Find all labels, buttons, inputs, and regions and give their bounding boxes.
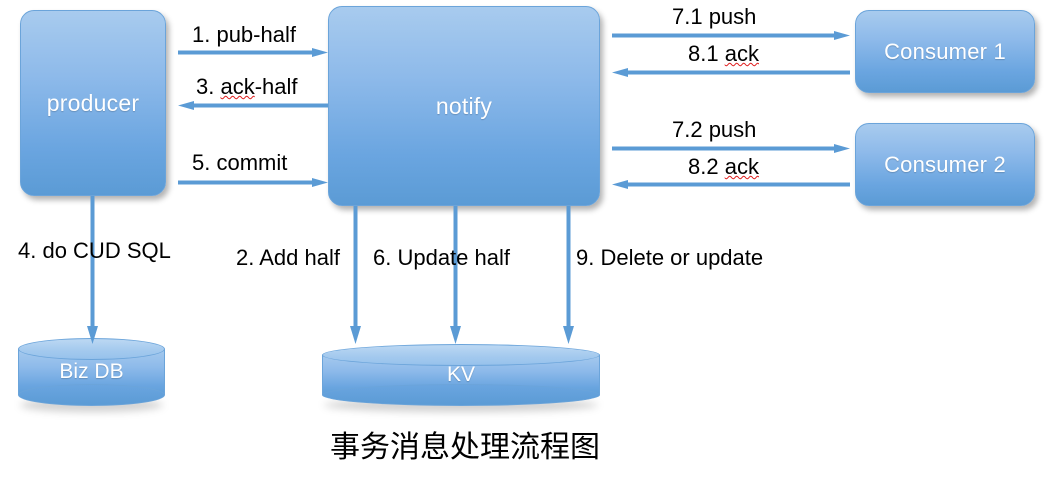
flow-diagram-canvas: producer notify Consumer 1 Consumer 2 Bi… [0,0,1058,483]
arrow-label-ack-half-prefix: 3. [196,74,220,99]
arrow-label-do-cud-sql: 4. do CUD SQL [18,238,171,264]
arrow-label-push-7-2-text: 7.2 push [672,117,756,142]
kv-label: KV [447,363,475,387]
arrow-do-cud-sql [87,196,98,344]
arrow-label-push-7-1-text: 7.1 push [672,4,756,29]
arrow-ack-half [178,101,328,110]
arrow-commit [178,178,328,187]
arrow-label-ack-8-1-misspelled: ack [725,41,759,66]
arrow-label-ack-8-2-misspelled: ack [725,154,759,179]
node-notify[interactable]: notify [328,6,600,206]
node-consumer-2[interactable]: Consumer 2 [855,123,1035,206]
node-consumer-1-label: Consumer 1 [884,39,1006,65]
arrow-label-ack-8-2: 8.2 ack [688,154,759,180]
arrow-label-delete-or-update: 9. Delete or update [576,245,763,271]
arrow-label-commit-text: 5. commit [192,150,287,175]
arrow-label-ack-8-2-prefix: 8.2 [688,154,725,179]
kv-label-wrap: KV [322,344,600,406]
arrow-ack-8-1 [612,68,850,77]
arrow-label-do-cud-sql-text: 4. do CUD SQL [18,238,171,263]
arrow-push-7-1 [612,31,850,40]
arrow-label-update-half-text: 6. Update half [373,245,510,270]
datastore-kv[interactable]: KV [322,344,600,406]
arrow-delete-or-update [563,206,574,344]
arrow-label-update-half: 6. Update half [373,245,510,271]
arrow-label-ack-half-suffix: -half [255,74,298,99]
arrow-label-push-7-2: 7.2 push [672,117,756,143]
arrow-add-half [350,206,361,344]
node-consumer-1[interactable]: Consumer 1 [855,10,1035,93]
arrow-label-ack-half-misspelled: ack [220,74,254,99]
arrow-pub-half [178,48,328,57]
arrow-label-commit: 5. commit [192,150,287,176]
biz-db-label-wrap: Biz DB [18,338,165,406]
arrow-update-half [450,206,461,344]
node-producer-label: producer [47,90,139,117]
arrow-label-pub-half-text: 1. pub-half [192,22,296,47]
arrow-push-7-2 [612,144,850,153]
node-notify-label: notify [436,93,492,120]
biz-db-label: Biz DB [59,360,123,384]
arrow-label-add-half: 2. Add half [236,245,340,271]
arrow-label-pub-half: 1. pub-half [192,22,296,48]
arrow-label-ack-half: 3. ack-half [196,74,298,100]
node-consumer-2-label: Consumer 2 [884,152,1006,178]
arrow-label-ack-8-1-prefix: 8.1 [688,41,725,66]
node-producer[interactable]: producer [20,10,166,196]
arrow-label-add-half-text: 2. Add half [236,245,340,270]
datastore-biz-db[interactable]: Biz DB [18,338,165,406]
arrow-ack-8-2 [612,180,850,189]
diagram-caption: 事务消息处理流程图 [330,422,600,466]
arrow-label-push-7-1: 7.1 push [672,4,756,30]
arrow-label-delete-or-update-text: 9. Delete or update [576,245,763,270]
diagram-caption-text: 事务消息处理流程图 [330,430,600,465]
arrow-label-ack-8-1: 8.1 ack [688,41,759,67]
